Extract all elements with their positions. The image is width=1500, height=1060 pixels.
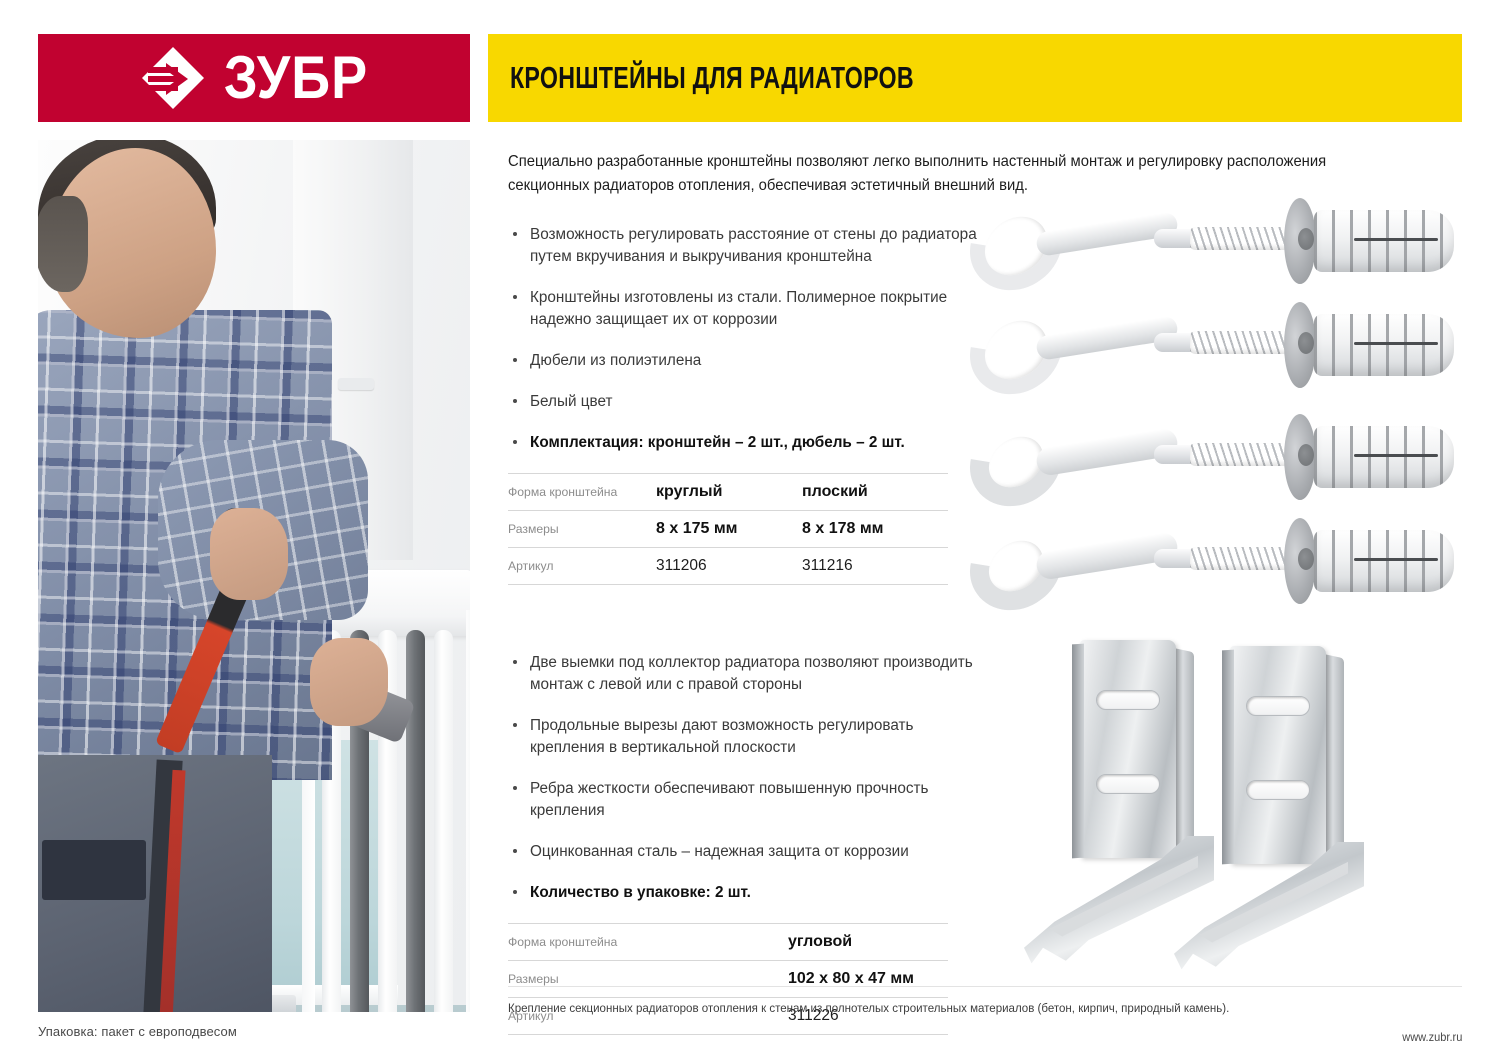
table-row: Форма кронштейна угловой [508, 924, 948, 961]
feature-list-1: Возможность регулировать расстояние от с… [508, 224, 978, 454]
hook-thread [1190, 547, 1298, 570]
row-label: Размеры [508, 961, 656, 998]
list-item-quantity: Количество в упаковке: 2 шт. [508, 882, 978, 904]
washer-hub [1298, 548, 1314, 570]
row-value-flat: плоский [802, 474, 948, 511]
application-photo [38, 140, 470, 1012]
flat-hook-bracket-2 [962, 516, 1462, 616]
list-item: Две выемки под коллектор радиатора позво… [508, 652, 978, 696]
title-banner: КРОНШТЕЙНЫ ДЛЯ РАДИАТОРОВ [488, 34, 1462, 122]
zubr-diamond-arrow-icon [140, 45, 206, 111]
angle-bracket-2 [1196, 634, 1396, 994]
washer-hub [1298, 444, 1314, 466]
radiator-column [434, 630, 453, 1012]
photo-person-upper-hand [210, 508, 288, 600]
website-url[interactable]: www.zubr.ru [1402, 1030, 1462, 1044]
list-item: Кронштейны изготовлены из стали. Полимер… [508, 287, 978, 331]
footer-note: Крепление секционных радиаторов отоплени… [508, 1000, 1345, 1017]
row-value-angle: 102 x 80 x 47 мм [656, 961, 948, 998]
row-value-angle: угловой [656, 924, 948, 961]
row-value-flat: 8 x 178 мм [802, 511, 948, 548]
photo-person-lower-hand [310, 638, 388, 726]
table-row: Размеры 8 x 175 мм 8 x 178 мм [508, 511, 948, 548]
bracket-stiffening-rib [1072, 644, 1084, 859]
bracket-slot [1096, 690, 1160, 710]
table-row: Размеры 102 x 80 x 47 мм [508, 961, 948, 998]
photo-pipe-clip [338, 378, 374, 390]
radiator-right-edge [466, 610, 470, 1012]
photo-person-sideburn [38, 196, 88, 292]
bracket-stiffening-rib [1222, 650, 1234, 865]
page-title: КРОНШТЕЙНЫ ДЛЯ РАДИАТОРОВ [510, 61, 914, 96]
product-datasheet-page: ЗУБР КРОНШТЕЙНЫ ДЛЯ РАДИАТОРОВ [0, 0, 1500, 1060]
hook-thread [1190, 227, 1298, 250]
polyethylene-dowel [1314, 426, 1454, 488]
washer-hub [1298, 332, 1314, 354]
dowel-slot [1354, 454, 1438, 457]
row-value-flat: 311216 [802, 548, 948, 585]
table-row: Артикул 311206 311216 [508, 548, 948, 585]
dowel-slot [1354, 238, 1438, 241]
packaging-caption: Упаковка: пакет с европодвесом [38, 1024, 237, 1039]
feature-list-2: Две выемки под коллектор радиатора позво… [508, 652, 978, 904]
washer-hub [1298, 228, 1314, 250]
intro-paragraph: Специально разработанные кронштейны позв… [508, 150, 1348, 198]
row-label: Размеры [508, 511, 656, 548]
footer-divider [508, 986, 1462, 987]
row-value-round: 311206 [656, 548, 802, 585]
brand-logo-block: ЗУБР [38, 34, 470, 122]
photo-overalls-pocket [42, 840, 146, 900]
row-value-round: 8 x 175 мм [656, 511, 802, 548]
list-item: Ребра жесткости обеспечивают повышенную … [508, 778, 978, 822]
row-label: Артикул [508, 548, 656, 585]
photo-radiator-valve [270, 995, 296, 1012]
row-label: Форма кронштейна [508, 924, 656, 961]
flat-hook-bracket-1 [962, 412, 1462, 512]
spec-table-1: Форма кронштейна круглый плоский Размеры… [508, 473, 948, 585]
list-item: Белый цвет [508, 391, 978, 413]
section-1-features: Возможность регулировать расстояние от с… [508, 224, 978, 585]
section-2-features: Две выемки под коллектор радиатора позво… [508, 652, 978, 1035]
list-item: Оцинкованная сталь – надежная защита от … [508, 841, 978, 863]
hook-bracket-photos [962, 196, 1482, 616]
photo-radiator [316, 570, 470, 1012]
dowel-slot [1354, 558, 1438, 561]
round-hook-bracket-2 [962, 300, 1462, 400]
dowel-slot [1354, 342, 1438, 345]
round-hook-bracket-1 [962, 196, 1462, 296]
row-label: Форма кронштейна [508, 474, 656, 511]
radiator-column [406, 630, 425, 1012]
hook-thread [1190, 331, 1298, 354]
list-item: Возможность регулировать расстояние от с… [508, 224, 978, 268]
bracket-slot [1246, 696, 1310, 716]
bracket-face-plate [1230, 646, 1326, 864]
list-item-kit: Комплектация: кронштейн – 2 шт., дюбель … [508, 432, 978, 454]
bracket-slot [1246, 780, 1310, 800]
list-item: Дюбели из полиэтилена [508, 350, 978, 372]
list-item: Продольные вырезы дают возможность регул… [508, 715, 978, 759]
polyethylene-dowel [1314, 314, 1454, 376]
bracket-slot [1096, 774, 1160, 794]
spec-table-2: Форма кронштейна угловой Размеры 102 x 8… [508, 923, 948, 1035]
bracket-face-plate [1080, 640, 1176, 858]
row-value-round: круглый [656, 474, 802, 511]
polyethylene-dowel [1314, 530, 1454, 592]
angle-bracket-photos [1046, 628, 1486, 996]
polyethylene-dowel [1314, 210, 1454, 272]
hook-thread [1190, 443, 1298, 466]
table-row: Форма кронштейна круглый плоский [508, 474, 948, 511]
brand-name: ЗУБР [224, 48, 368, 108]
